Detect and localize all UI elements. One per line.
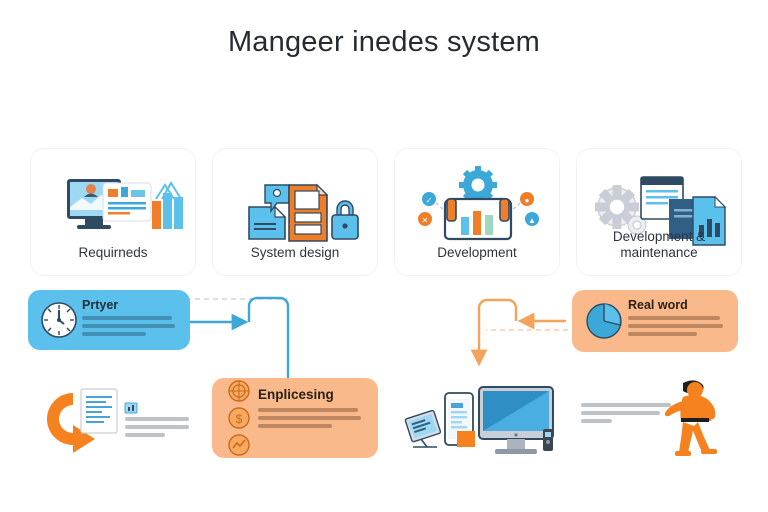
callout-heading: Enplicesing: [258, 387, 364, 402]
blurred-text-line: [125, 417, 189, 421]
stage-card-label: Development: [395, 245, 559, 261]
blurred-text-line: [581, 411, 660, 415]
svg-text:▲: ▲: [528, 216, 536, 225]
remote-icon: [543, 429, 553, 451]
blurred-text-line: [82, 332, 146, 336]
diagram-canvas: Mangeer inedes system: [0, 0, 768, 512]
blurred-text-line: [581, 419, 612, 423]
stage-card-development-maintenance[interactable]: Development & maintenance: [576, 148, 742, 276]
desktop-monitor-icon: [479, 387, 553, 454]
callout-heading: Prtyer: [82, 298, 176, 312]
panel-process-doc: [28, 376, 194, 460]
panel-person: [572, 376, 738, 460]
blurred-text-line: [125, 433, 165, 437]
stage-card-development[interactable]: ✓ ✕ ● ▲ Development: [394, 148, 560, 276]
callout-engineering[interactable]: $ Enplicesing: [212, 378, 378, 458]
clock-icon: [36, 298, 82, 342]
blue-elbow-down: [249, 298, 288, 380]
stage-card-requirements[interactable]: Requirneds: [30, 148, 196, 276]
small-chart-icon: [125, 403, 137, 413]
pie-chart-icon: [580, 298, 628, 344]
stage-card-label: System design: [213, 245, 377, 261]
stage-card-system-design[interactable]: System design: [212, 148, 378, 276]
monitor-chart-icon: [31, 163, 195, 255]
callout-prtyer[interactable]: Prtyer: [28, 290, 190, 350]
svg-text:●: ●: [525, 196, 530, 205]
stage-card-label: Development & maintenance: [577, 229, 741, 261]
blurred-text-line: [628, 332, 697, 336]
blurred-text-line: [82, 324, 175, 328]
blurred-text-line: [82, 316, 172, 320]
blurred-text-line: [125, 425, 189, 429]
page-title: Mangeer inedes system: [0, 26, 768, 59]
three-badges-icon: $: [220, 387, 258, 449]
document-lines-icon: [81, 389, 117, 433]
svg-text:✓: ✓: [426, 196, 433, 205]
blurred-text-line: [258, 416, 361, 420]
documents-lock-icon: [213, 163, 377, 255]
svg-text:✕: ✕: [422, 216, 429, 225]
tablet-icon: [405, 410, 441, 442]
panel-devices: [394, 376, 560, 460]
callout-heading: Real word: [628, 298, 724, 312]
callout-real-word[interactable]: Real word: [572, 290, 738, 352]
blurred-text-line: [258, 424, 332, 428]
orange-arrow-down: [479, 300, 516, 364]
blurred-text-line: [628, 324, 723, 328]
stage-card-label: Requirneds: [31, 245, 195, 261]
svg-text:$: $: [236, 412, 243, 426]
gear-briefcase-chart-icon: ✓ ✕ ● ▲: [395, 163, 559, 255]
blurred-text-line: [258, 408, 358, 412]
walking-person-icon: [653, 377, 733, 461]
blurred-text-line: [628, 316, 720, 320]
